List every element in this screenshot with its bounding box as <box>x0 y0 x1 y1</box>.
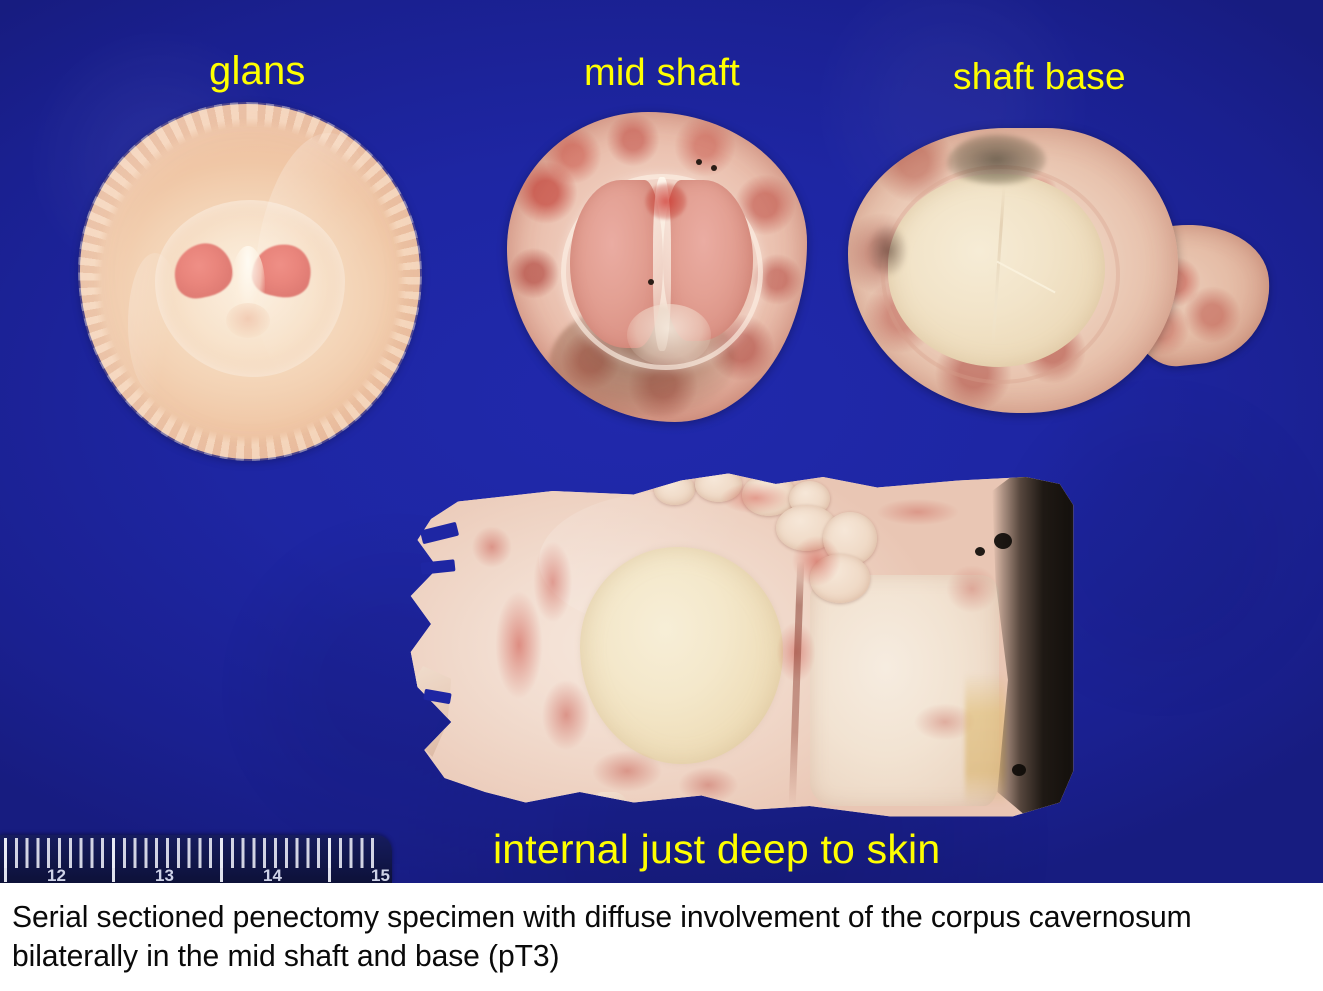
ruler-mark-12: 12 <box>47 866 66 883</box>
annotation-label-shaft-base: shaft base <box>953 56 1126 98</box>
scale-ruler: 12 13 14 15 <box>0 835 392 883</box>
mid-shaft-corpus-spongiosum <box>627 304 711 366</box>
shaft-base-necrotic-patch <box>947 134 1046 185</box>
gross-pathology-photograph: glans mid shaft shaft base internal just… <box>0 0 1323 883</box>
annotation-label-glans: glans <box>209 49 306 94</box>
ruler-mark-14: 14 <box>263 866 282 883</box>
inked-surgical-margin <box>992 470 1080 820</box>
mid-shaft-cut-surface <box>507 112 807 422</box>
longitudinal-tissue-tag-2 <box>593 792 627 820</box>
specimen-shaft-base-cross-section <box>848 128 1268 413</box>
shaft-base-cut-surface <box>848 128 1178 413</box>
figure-caption: Serial sectioned penectomy specimen with… <box>0 883 1323 991</box>
ink-blob-3 <box>1012 764 1026 776</box>
mid-shaft-dark-fleck-3 <box>711 165 717 171</box>
ruler-numbers: 12 13 14 15 <box>0 866 392 883</box>
annotation-label-mid-shaft: mid shaft <box>584 52 740 95</box>
annotation-label-internal-just-deep-to-skin: internal just deep to skin <box>493 826 940 873</box>
glans-crenulated-rim <box>78 102 422 461</box>
longitudinal-cut-surface <box>404 470 1080 820</box>
screenshot-root: glans mid shaft shaft base internal just… <box>0 0 1323 991</box>
ruler-mark-13: 13 <box>155 866 174 883</box>
specimen-glans-cross-section <box>80 104 420 459</box>
ruler-mark-15: 15 <box>371 866 390 883</box>
specimen-longitudinal-section <box>404 470 1080 820</box>
mid-shaft-dark-fleck-2 <box>696 159 702 165</box>
caption-text: Serial sectioned penectomy specimen with… <box>12 897 1270 975</box>
specimen-mid-shaft-cross-section <box>507 112 807 422</box>
